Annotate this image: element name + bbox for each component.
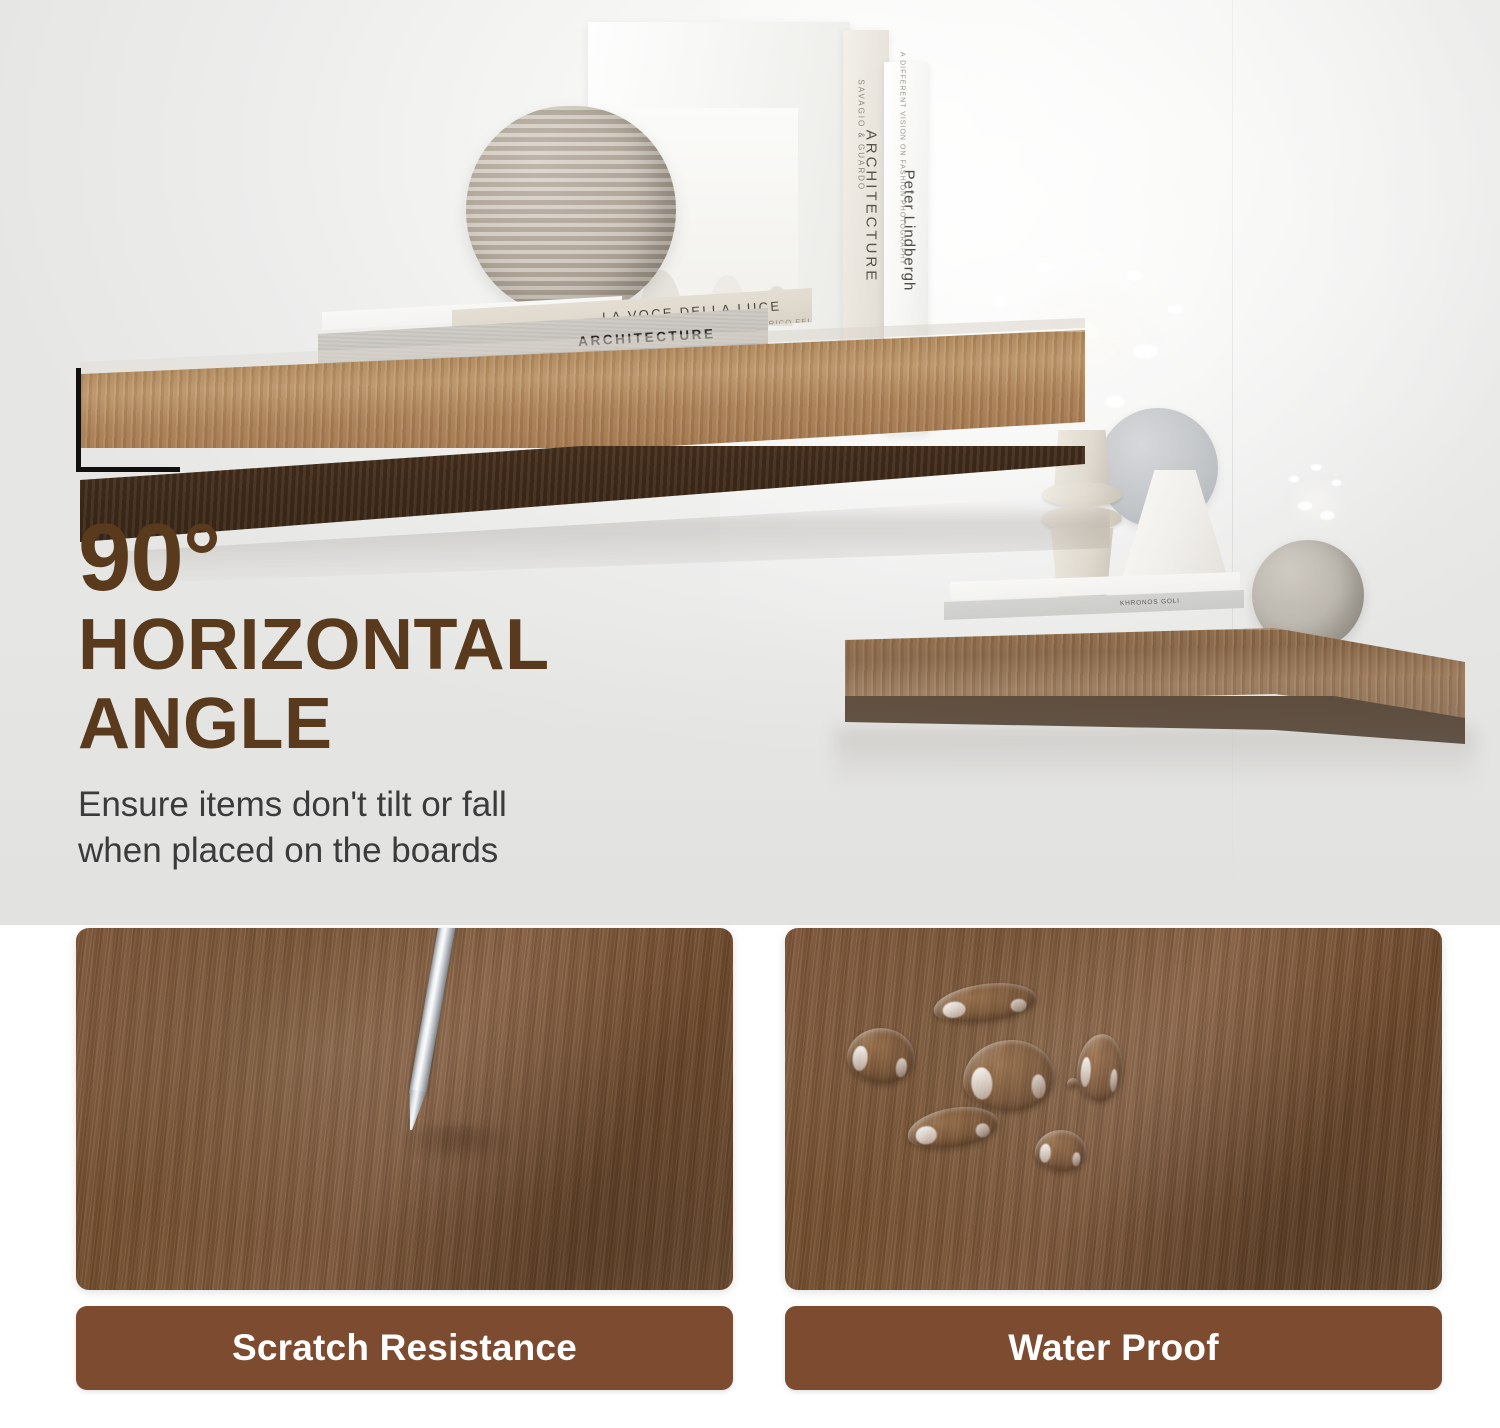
- headline-line-1: HORIZONTAL: [78, 608, 778, 683]
- hero-scene: ARCHITECTURE SAVAGIO & GUARDO Peter Lind…: [0, 0, 1500, 925]
- screwdriver-on-wood-photo: [76, 928, 733, 1290]
- droplet-highlight: [1072, 1152, 1081, 1167]
- headline-block: 90° HORIZONTAL ANGLE Ensure items don't …: [78, 512, 778, 874]
- book-spine-author: SAVAGIO & GUARDO: [855, 10, 866, 260]
- angle-horizontal-leg: [76, 467, 180, 472]
- subtitle-line-1: Ensure items don't tilt or fall: [78, 782, 778, 828]
- screwdriver-tip: [403, 1089, 427, 1131]
- headline-line-2: ANGLE: [78, 687, 778, 762]
- droplet-highlight: [1080, 1057, 1092, 1088]
- droplet-highlight: [1039, 1143, 1052, 1162]
- droplet-highlight: [975, 1122, 991, 1138]
- feature-water-proof: Water Proof: [785, 928, 1442, 1390]
- right-angle-icon: [76, 368, 180, 472]
- droplet-highlight: [971, 1067, 993, 1100]
- water-droplets-on-wood-photo: [785, 928, 1442, 1290]
- water-droplet-tiny: [1067, 1078, 1079, 1088]
- droplet-highlight: [1109, 1069, 1117, 1093]
- feature-scratch-resistance: Scratch Resistance: [76, 928, 733, 1390]
- droplet-highlight: [915, 1125, 938, 1146]
- droplet-highlight: [1010, 998, 1027, 1013]
- surface-dimple: [398, 1124, 518, 1164]
- angle-arc: [81, 427, 121, 467]
- headline-degree: 90°: [78, 512, 778, 604]
- book-spine-author: A DIFFERENT VISION ON FASHION PHOTOGRAPH…: [897, 49, 906, 269]
- droplet-highlight: [942, 1000, 967, 1019]
- product-feature-graphic: ARCHITECTURE SAVAGIO & GUARDO Peter Lind…: [0, 0, 1500, 1428]
- subtitle-line-2: when placed on the boards: [78, 828, 778, 874]
- droplet-highlight: [852, 1045, 869, 1071]
- droplet-highlight: [895, 1058, 907, 1078]
- feature-label-scratch-resistance: Scratch Resistance: [76, 1306, 733, 1390]
- dried-white-florals-small: [1272, 456, 1364, 552]
- wood-grain-surface: [785, 928, 1442, 1290]
- droplet-highlight: [1031, 1074, 1046, 1099]
- feature-label-water-proof: Water Proof: [785, 1306, 1442, 1390]
- ribbed-ceramic-vase: [466, 106, 676, 314]
- angle-vertical-leg: [76, 368, 81, 468]
